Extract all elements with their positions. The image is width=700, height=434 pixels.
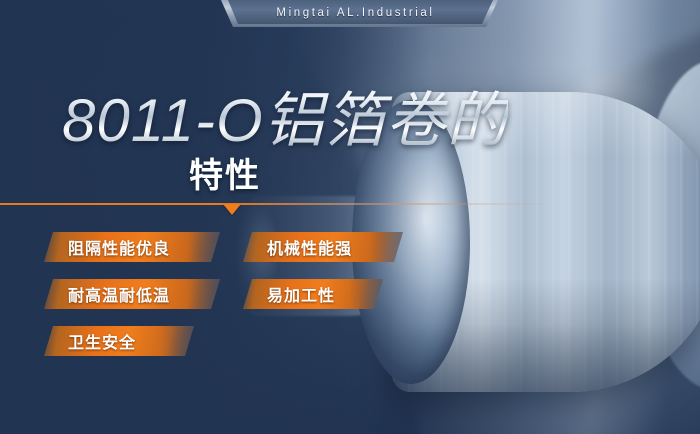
- brand-banner-label: Mingtai AL.Industrial: [213, 0, 498, 26]
- feature-tag: 易加工性: [243, 279, 383, 309]
- feature-tag-label: 机械性能强: [243, 235, 352, 259]
- divider: [0, 203, 560, 205]
- promotional-poster: Mingtai AL.Industrial 8011-O铝箔卷的 特性 阻隔性能…: [0, 0, 700, 434]
- feature-tag-label: 卫生安全: [44, 329, 136, 353]
- feature-tag: 卫生安全: [44, 326, 194, 356]
- feature-tag-label: 耐高温耐低温: [44, 282, 170, 306]
- down-triangle-icon: [223, 204, 241, 215]
- page-title: 8011-O铝箔卷的: [62, 72, 508, 159]
- feature-tag-list: 阻隔性能优良 机械性能强 耐高温耐低温 易加工性 卫生安全: [0, 232, 700, 372]
- feature-tag: 耐高温耐低温: [44, 279, 220, 309]
- feature-tag: 机械性能强: [243, 232, 403, 262]
- feature-tag: 阻隔性能优良: [44, 232, 220, 262]
- page-subtitle: 特性: [189, 148, 261, 197]
- feature-tag-label: 易加工性: [243, 282, 335, 306]
- feature-tag-label: 阻隔性能优良: [44, 235, 170, 259]
